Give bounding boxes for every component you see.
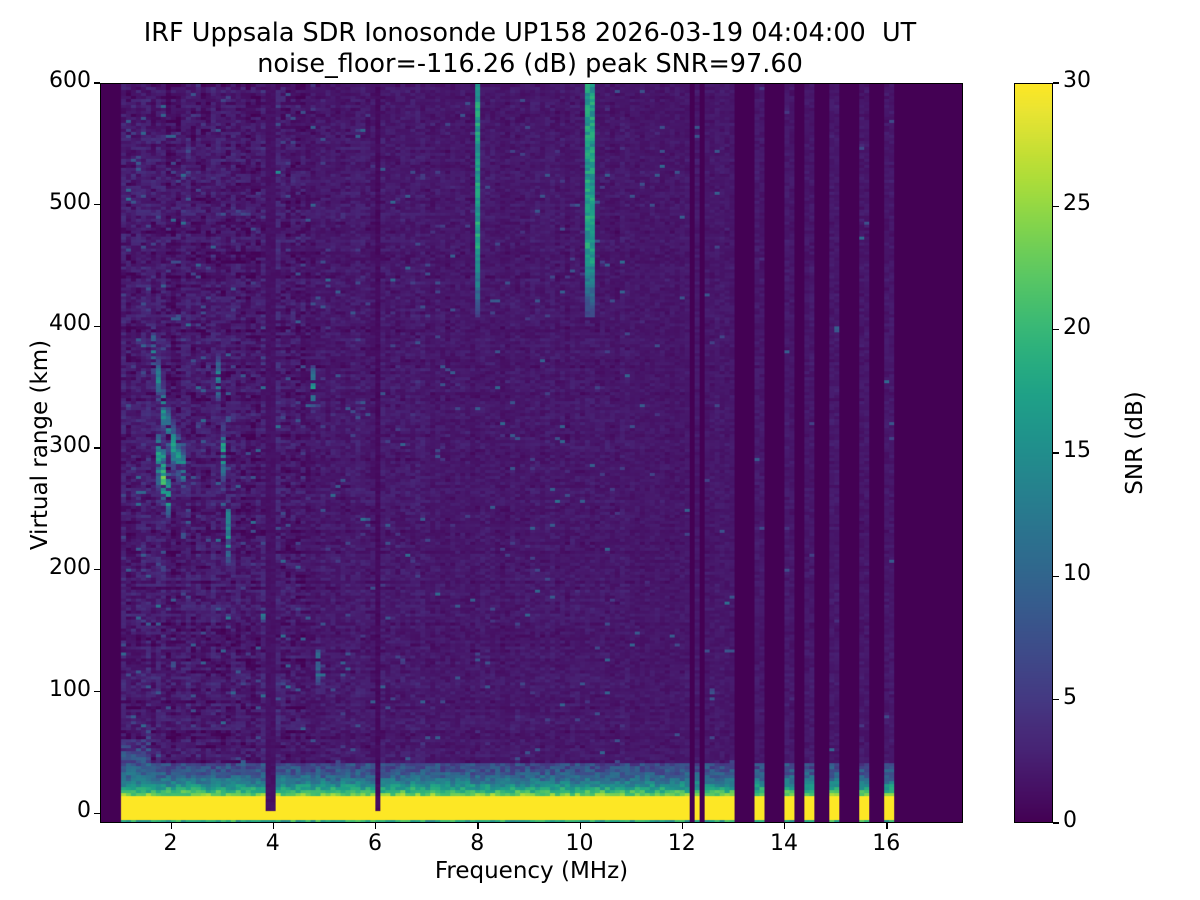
y-tick-100 bbox=[94, 691, 100, 692]
x-tick-16 bbox=[886, 823, 887, 829]
colorbar-tick-25 bbox=[1053, 206, 1059, 207]
colorbar bbox=[1014, 83, 1053, 823]
x-tick-12 bbox=[682, 823, 683, 829]
x-tick-8 bbox=[477, 823, 478, 829]
x-tick-10 bbox=[580, 823, 581, 829]
title-line-2: noise_floor=-116.26 (dB) peak SNR=97.60 bbox=[0, 49, 1060, 80]
y-tick-0 bbox=[94, 813, 100, 814]
colorbar-tick-label: 5 bbox=[1063, 685, 1077, 710]
x-tick-14 bbox=[784, 823, 785, 829]
x-tick-label: 6 bbox=[335, 831, 415, 856]
ionogram-heatmap bbox=[101, 84, 962, 822]
colorbar-tick-label: 25 bbox=[1063, 191, 1091, 216]
colorbar-title: SNR (dB) bbox=[1122, 233, 1148, 653]
y-axis-title: Virtual range (km) bbox=[27, 75, 53, 815]
title-line-1: IRF Uppsala SDR Ionosonde UP158 2026-03-… bbox=[0, 18, 1060, 49]
colorbar-tick-label: 15 bbox=[1063, 438, 1091, 463]
colorbar-tick-label: 10 bbox=[1063, 561, 1091, 586]
colorbar-gradient bbox=[1015, 84, 1052, 822]
x-tick-4 bbox=[273, 823, 274, 829]
y-tick-400 bbox=[94, 326, 100, 327]
colorbar-tick-20 bbox=[1053, 329, 1059, 330]
x-tick-label: 8 bbox=[437, 831, 517, 856]
colorbar-tick-0 bbox=[1053, 822, 1059, 823]
x-tick-2 bbox=[171, 823, 172, 829]
colorbar-tick-label: 20 bbox=[1063, 315, 1091, 340]
figure-title: IRF Uppsala SDR Ionosonde UP158 2026-03-… bbox=[0, 18, 1060, 79]
colorbar-tick-30 bbox=[1053, 82, 1059, 83]
colorbar-tick-label: 0 bbox=[1063, 808, 1077, 833]
x-axis-title: Frequency (MHz) bbox=[100, 858, 963, 884]
x-tick-label: 2 bbox=[131, 831, 211, 856]
y-tick-300 bbox=[94, 447, 100, 448]
y-tick-600 bbox=[94, 82, 100, 83]
x-tick-label: 12 bbox=[642, 831, 722, 856]
x-tick-label: 4 bbox=[233, 831, 313, 856]
x-tick-label: 14 bbox=[744, 831, 824, 856]
y-tick-200 bbox=[94, 569, 100, 570]
x-tick-label: 16 bbox=[846, 831, 926, 856]
colorbar-tick-15 bbox=[1053, 452, 1059, 453]
y-tick-500 bbox=[94, 204, 100, 205]
x-tick-6 bbox=[375, 823, 376, 829]
colorbar-tick-5 bbox=[1053, 699, 1059, 700]
x-tick-label: 10 bbox=[540, 831, 620, 856]
colorbar-tick-10 bbox=[1053, 576, 1059, 577]
colorbar-tick-label: 30 bbox=[1063, 68, 1091, 93]
ionogram-figure: IRF Uppsala SDR Ionosonde UP158 2026-03-… bbox=[0, 0, 1200, 900]
ionogram-plot-area bbox=[100, 83, 963, 823]
